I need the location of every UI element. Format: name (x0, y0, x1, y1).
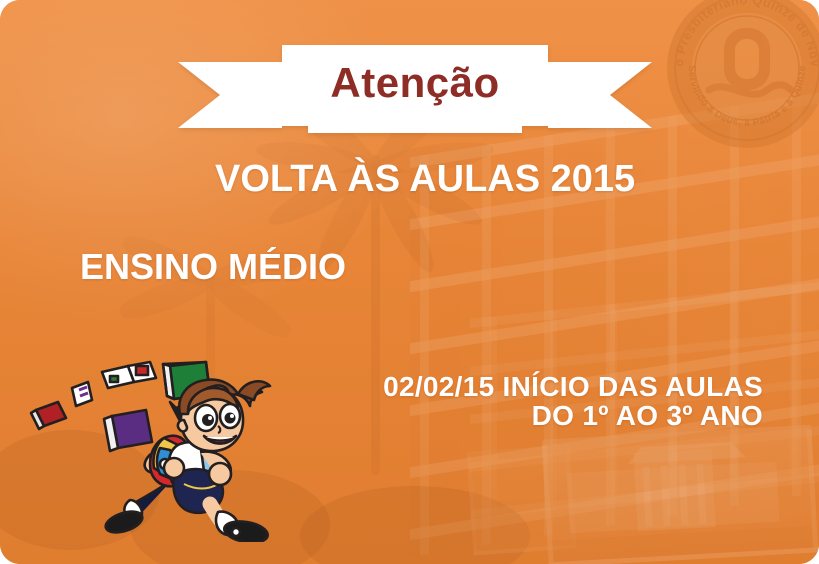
purple-book-icon (104, 410, 152, 451)
school-seal-logo: Colégio Presbiteriano Quinze de Novembro… (661, 0, 819, 154)
attention-ribbon: Atenção (178, 40, 652, 145)
date-block: 02/02/15 INÍCIO DAS AULAS DO 1º AO 3º AN… (383, 372, 763, 431)
ribbon-title: Atenção (178, 40, 652, 126)
headline-volta-as-aulas: VOLTA ÀS AULAS 2015 (215, 160, 635, 200)
running-schoolboy-illustration (24, 352, 314, 542)
date-line-2: DO 1º AO 3º ANO (383, 401, 763, 430)
open-notebook-icon (102, 362, 156, 388)
white-paper-icon (72, 382, 92, 406)
headline-ensino-medio: ENSINO MÉDIO (80, 248, 346, 286)
red-book-icon (31, 402, 66, 429)
date-line-1: 02/02/15 INÍCIO DAS AULAS (383, 371, 763, 402)
poster-canvas: Colégio Presbiteriano Quinze de Novembro… (0, 0, 819, 564)
